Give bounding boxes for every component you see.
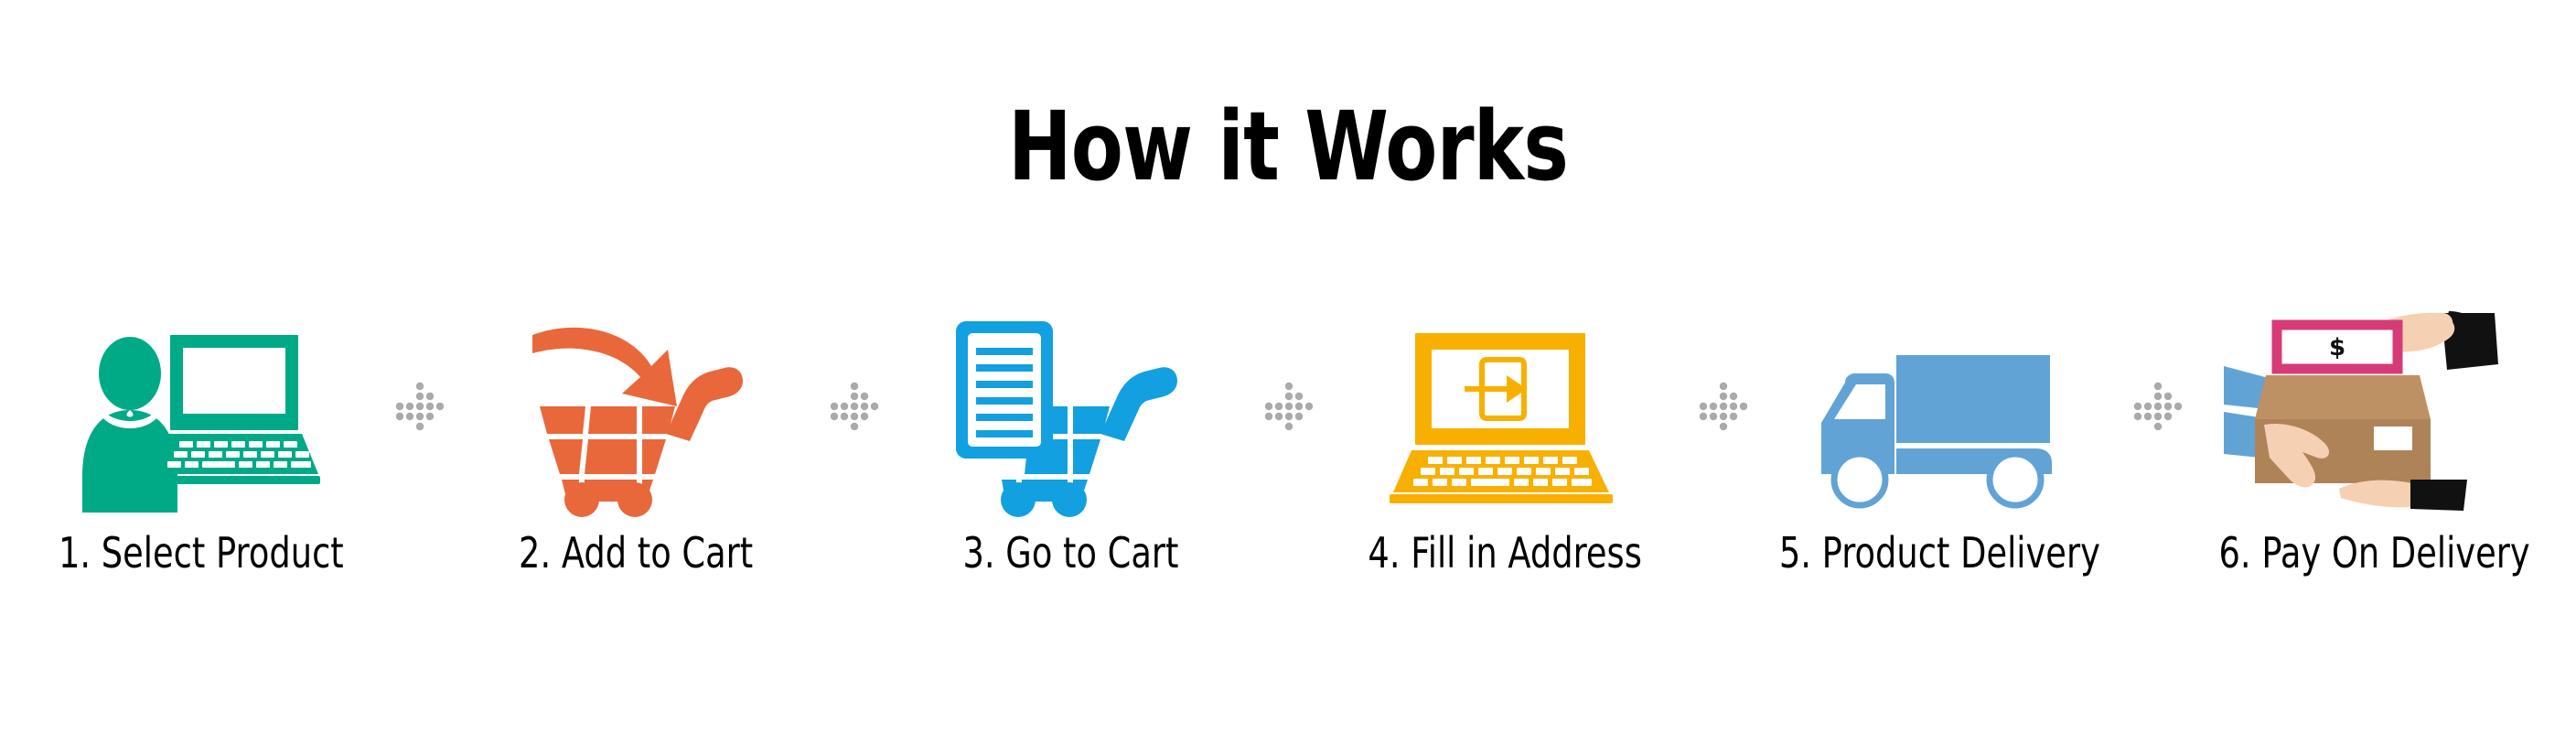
step-1-select-product[interactable]: 1. Select Product xyxy=(37,302,366,577)
page-title: How it Works xyxy=(258,95,2319,198)
dotted-arrow-right-icon xyxy=(1251,302,1325,513)
laptop-login-icon xyxy=(1341,302,1670,513)
document-with-cart-icon xyxy=(906,302,1235,513)
step-label: 6. Pay On Delivery xyxy=(2219,529,2530,577)
step-label: 2. Add to Cart xyxy=(519,529,753,577)
infographic-page: How it Works xyxy=(0,0,2576,745)
step-2-add-to-cart[interactable]: 2. Add to Cart xyxy=(471,302,800,577)
step-label: 1. Select Product xyxy=(59,529,344,577)
person-with-laptop-icon xyxy=(37,302,366,513)
step-5-product-delivery[interactable]: 5. Product Delivery xyxy=(1776,302,2105,577)
dotted-arrow-right-icon xyxy=(382,302,456,513)
step-label: 5. Product Delivery xyxy=(1779,529,2100,577)
step-3-go-to-cart[interactable]: 3. Go to Cart xyxy=(906,302,1235,577)
step-label: 3. Go to Cart xyxy=(962,529,1178,577)
steps-row: 1. Select Product xyxy=(37,302,2539,650)
cart-with-arrow-icon xyxy=(471,302,800,513)
dotted-arrow-right-icon xyxy=(1686,302,1759,513)
delivery-truck-icon xyxy=(1776,302,2105,513)
step-4-fill-in-address[interactable]: 4. Fill in Address xyxy=(1341,302,1670,577)
bill-dollar-symbol: $ xyxy=(2329,334,2345,362)
dotted-arrow-right-icon xyxy=(817,302,890,513)
step-6-pay-on-delivery[interactable]: $ 6. Pay On D xyxy=(2210,302,2539,577)
box-handover-cash-icon: $ xyxy=(2210,302,2539,513)
dotted-arrow-right-icon xyxy=(2120,302,2194,513)
step-label: 4. Fill in Address xyxy=(1368,529,1642,577)
